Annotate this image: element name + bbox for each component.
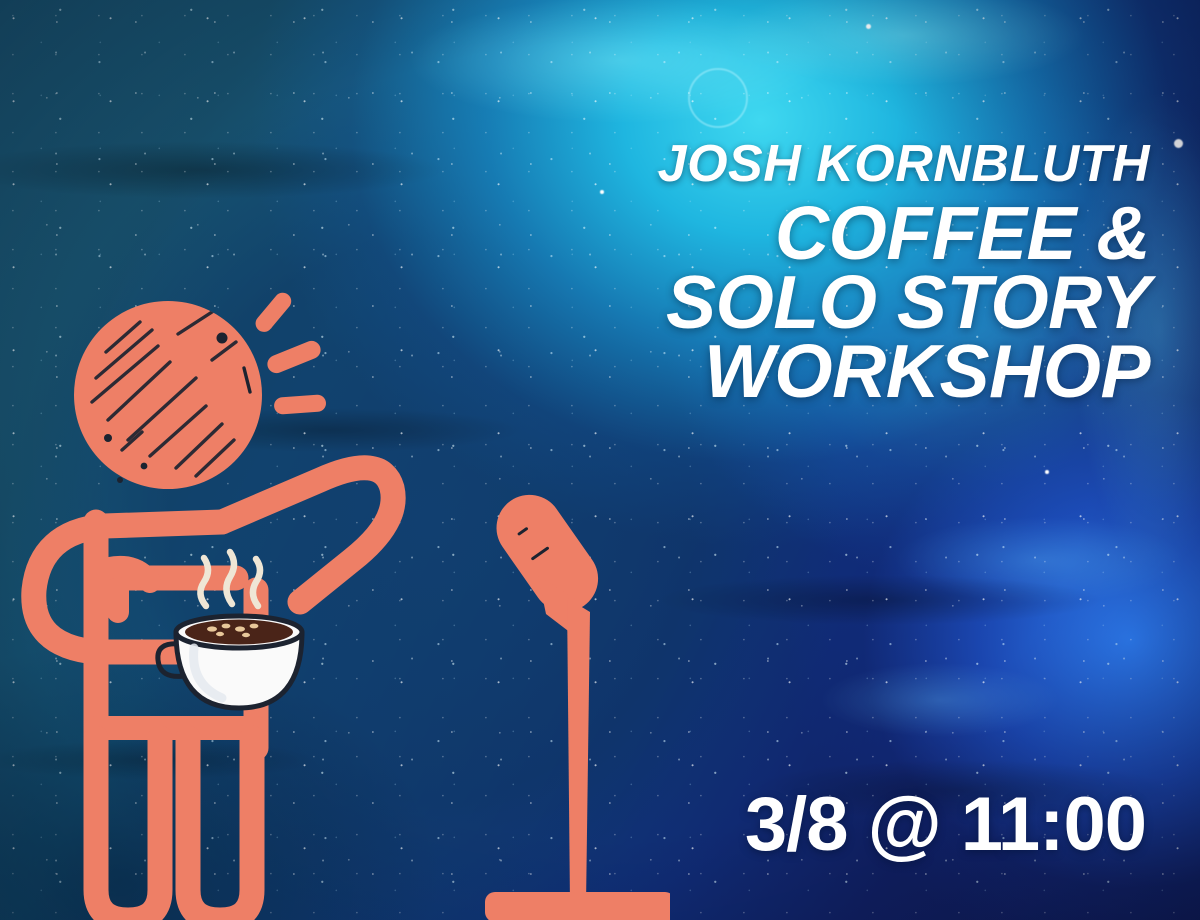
figure-leg-right [188, 738, 252, 920]
figure-leg-left [96, 738, 160, 920]
title-line-3: WORKSHOP [470, 334, 1150, 409]
steam-icon [200, 552, 260, 606]
coffee-liquid [185, 620, 293, 645]
presenter-name: JOSH KORNBLUTH [470, 138, 1150, 190]
headline-block: JOSH KORNBLUTH COFFEE & SOLO STORY WORKS… [470, 138, 1150, 409]
figure-head [74, 301, 262, 489]
event-poster: JOSH KORNBLUTH COFFEE & SOLO STORY WORKS… [0, 0, 1200, 920]
event-datetime: 3/8 @ 11:00 [745, 781, 1146, 868]
microphone-base [485, 892, 670, 920]
coffee-cup-illustration [150, 548, 330, 720]
accent-dashes-icon [252, 290, 326, 415]
